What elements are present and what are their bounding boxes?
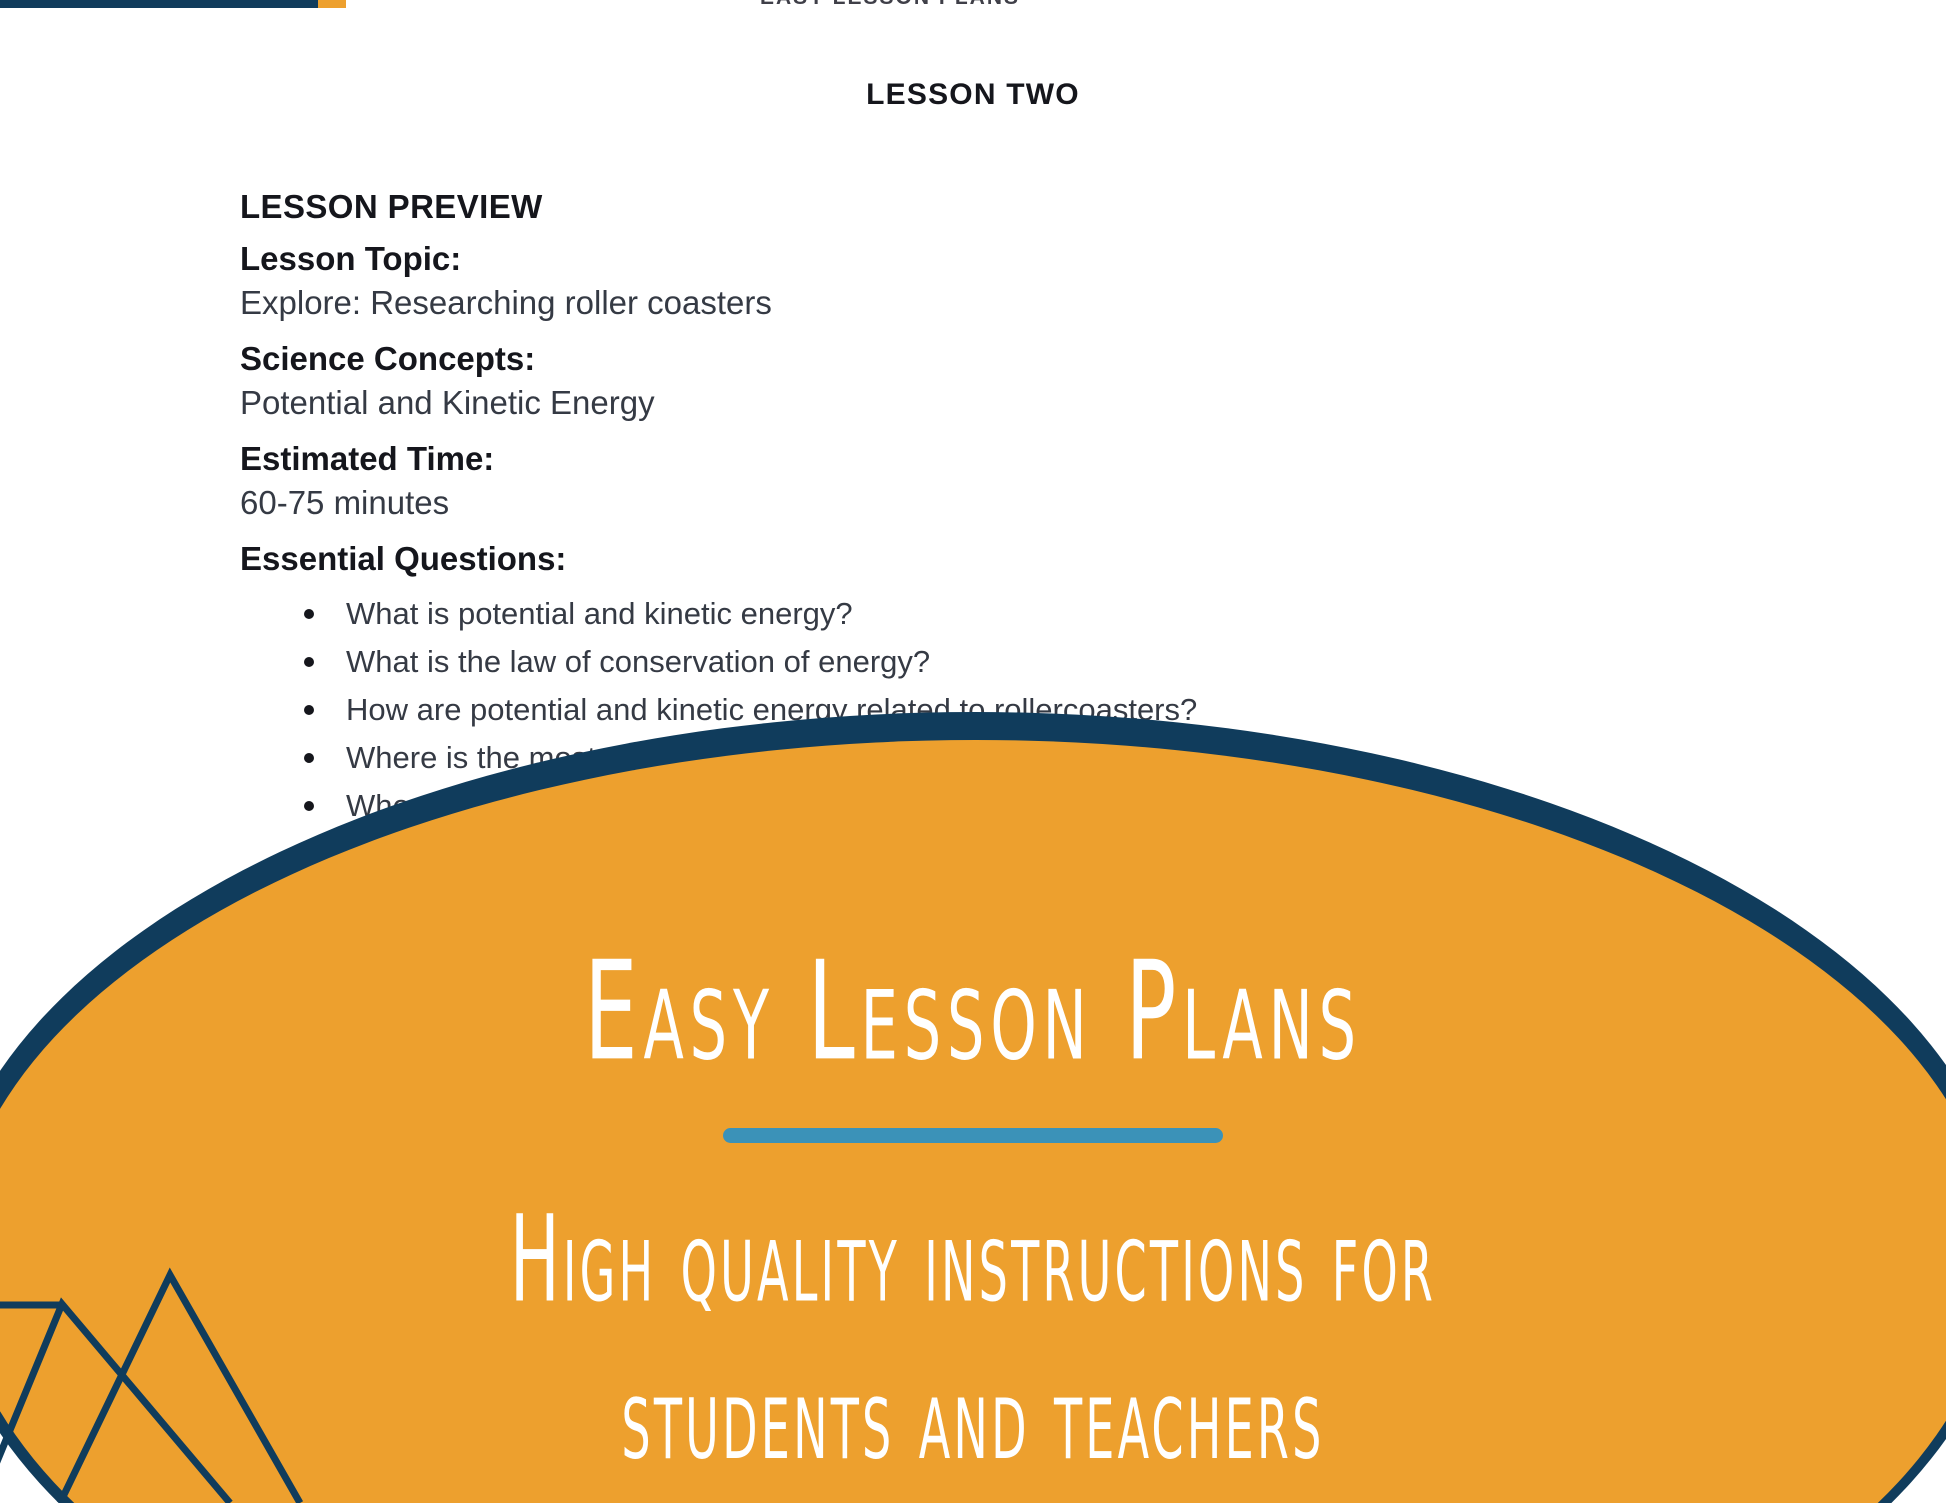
banner-subtitle-line-1: High quality instructions for [195,1181,1752,1339]
banner-subtitle: High quality instructions for students a… [195,1181,1752,1497]
field-label-lesson-topic: Lesson Topic: [240,240,1640,278]
list-item: What is potential and kinetic energy? [296,592,1640,636]
banner-divider [723,1128,1223,1143]
banner-title: Easy Lesson Plans [156,944,1791,1081]
lesson-content: LESSON PREVIEW Lesson Topic: Explore: Re… [240,188,1640,832]
field-value-science-concepts: Potential and Kinetic Energy [240,384,1640,422]
essential-questions-label: Essential Questions: [240,540,1640,578]
banner-text-block: Easy Lesson Plans High quality instructi… [0,760,1946,1503]
field-label-estimated-time: Estimated Time: [240,440,1640,478]
lesson-preview-heading: LESSON PREVIEW [240,188,1640,226]
banner-subtitle-line-2: students and teachers [195,1339,1752,1497]
field-value-lesson-topic: Explore: Researching roller coasters [240,284,1640,322]
lesson-title: LESSON TWO [0,78,1946,112]
page-root: EASY LESSON PLANS LESSON TWO LESSON PREV… [0,0,1946,1503]
list-item: How are potential and kinetic energy rel… [296,688,1640,732]
field-label-science-concepts: Science Concepts: [240,340,1640,378]
field-value-estimated-time: 60-75 minutes [240,484,1640,522]
list-item: What is the law of conservation of energ… [296,640,1640,684]
